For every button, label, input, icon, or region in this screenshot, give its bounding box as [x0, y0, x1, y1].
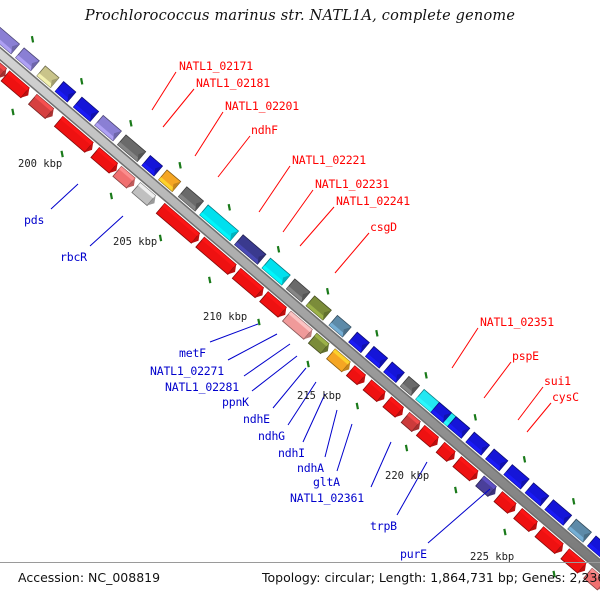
- leader-forward-5: [283, 190, 313, 232]
- gene-label-sui1[interactable]: sui1: [544, 374, 571, 388]
- gene-label-ndha[interactable]: ndhA: [297, 461, 324, 475]
- genome-map-viewer[interactable]: Prochlorococcus marinus str. NATL1A, com…: [0, 0, 600, 600]
- gene-label-natl1_02201[interactable]: NATL1_02201: [225, 99, 299, 113]
- feature-tick-20: [455, 487, 456, 493]
- feature-tick-13: [327, 288, 328, 294]
- leader-reverse-3: [228, 334, 277, 360]
- feature-tick-15: [376, 330, 377, 336]
- gene-label-natl1_02351[interactable]: NATL1_02351: [480, 315, 554, 329]
- gene-label-csgd[interactable]: csgD: [370, 220, 397, 234]
- leader-reverse-0: [51, 184, 78, 209]
- accession-text: Accession: NC_008819: [18, 570, 160, 585]
- genome-map-canvas[interactable]: [0, 0, 600, 600]
- ruler-tick-210: 210 kbp: [203, 311, 247, 323]
- leader-forward-4: [259, 166, 290, 212]
- feature-tick-7: [179, 162, 180, 168]
- feature-tick-12: [258, 319, 259, 325]
- leader-forward-9: [484, 362, 511, 398]
- gene-label-ndhi[interactable]: ndhI: [278, 446, 305, 460]
- ruler-tick-215: 215 kbp: [297, 390, 341, 402]
- feature-tick-21: [524, 456, 525, 462]
- leader-forward-7: [335, 233, 369, 273]
- gene-label-natl1_02181[interactable]: NATL1_02181: [196, 76, 270, 90]
- gene-label-trpb[interactable]: trpB: [370, 519, 397, 533]
- leader-forward-6: [300, 207, 334, 246]
- leader-reverse-9: [325, 410, 337, 457]
- leader-reverse-4: [244, 344, 290, 376]
- feature-tick-5: [130, 120, 131, 126]
- ruler-tick-200: 200 kbp: [18, 158, 62, 170]
- ruler-tick-205: 205 kbp: [113, 236, 157, 248]
- genome-summary-text: Topology: circular; Length: 1,864,731 bp…: [262, 570, 600, 585]
- leader-reverse-7: [288, 382, 316, 425]
- feature-tick-2: [12, 109, 13, 115]
- gene-label-rbcr[interactable]: rbcR: [60, 250, 87, 264]
- gene-label-ppnk[interactable]: ppnK: [222, 395, 249, 409]
- leader-forward-11: [527, 403, 551, 432]
- feature-tick-9: [229, 204, 230, 210]
- gene-label-ndhg[interactable]: ndhG: [258, 429, 285, 443]
- feature-tick-14: [308, 361, 309, 367]
- leader-forward-3: [218, 136, 250, 177]
- leader-reverse-2: [210, 324, 258, 342]
- leader-forward-10: [518, 387, 543, 420]
- gene-label-pds[interactable]: pds: [24, 213, 44, 227]
- feature-tick-4: [62, 151, 63, 157]
- feature-tick-17: [425, 372, 426, 378]
- gene-label-natl1_02361[interactable]: NATL1_02361: [290, 491, 364, 505]
- gene-label-natl1_02241[interactable]: NATL1_02241: [336, 194, 410, 208]
- feature-tick-23: [573, 498, 574, 504]
- leader-reverse-6: [273, 368, 306, 408]
- feature-tick-19: [475, 414, 476, 420]
- gene-label-cysc[interactable]: cysC: [552, 390, 579, 404]
- gene-label-natl1_02231[interactable]: NATL1_02231: [315, 177, 389, 191]
- leader-reverse-13: [428, 489, 490, 543]
- ruler-tick-220: 220 kbp: [385, 470, 429, 482]
- footer-divider: [0, 562, 600, 563]
- gene-label-glta[interactable]: gltA: [313, 475, 340, 489]
- gene-label-metf[interactable]: metF: [179, 346, 206, 360]
- feature-tick-6: [111, 193, 112, 199]
- feature-tick-22: [504, 529, 505, 535]
- gene-label-natl1_02281[interactable]: NATL1_02281: [165, 380, 239, 394]
- feature-tick-10: [209, 277, 210, 283]
- gene-label-natl1_02221[interactable]: NATL1_02221: [292, 153, 366, 167]
- gene-label-natl1_02171[interactable]: NATL1_02171: [179, 59, 253, 73]
- gene-label-natl1_02271[interactable]: NATL1_02271: [150, 364, 224, 378]
- leader-forward-0: [152, 72, 176, 110]
- leader-reverse-10: [337, 424, 352, 471]
- leader-reverse-5: [252, 356, 297, 391]
- feature-tick-16: [357, 403, 358, 409]
- leader-forward-8: [452, 328, 478, 368]
- gene-label-pure[interactable]: purE: [400, 547, 427, 561]
- gene-label-ndhf[interactable]: ndhF: [251, 123, 278, 137]
- leader-forward-2: [195, 112, 223, 156]
- gene-label-ndhe[interactable]: ndhE: [243, 412, 270, 426]
- feature-tick-3: [81, 78, 82, 84]
- feature-tick-18: [406, 445, 407, 451]
- feature-tick-11: [278, 246, 279, 252]
- feature-tick-1: [32, 36, 33, 42]
- leader-forward-1: [163, 89, 194, 127]
- feature-tick-8: [160, 235, 161, 241]
- gene-label-pspe[interactable]: pspE: [512, 349, 539, 363]
